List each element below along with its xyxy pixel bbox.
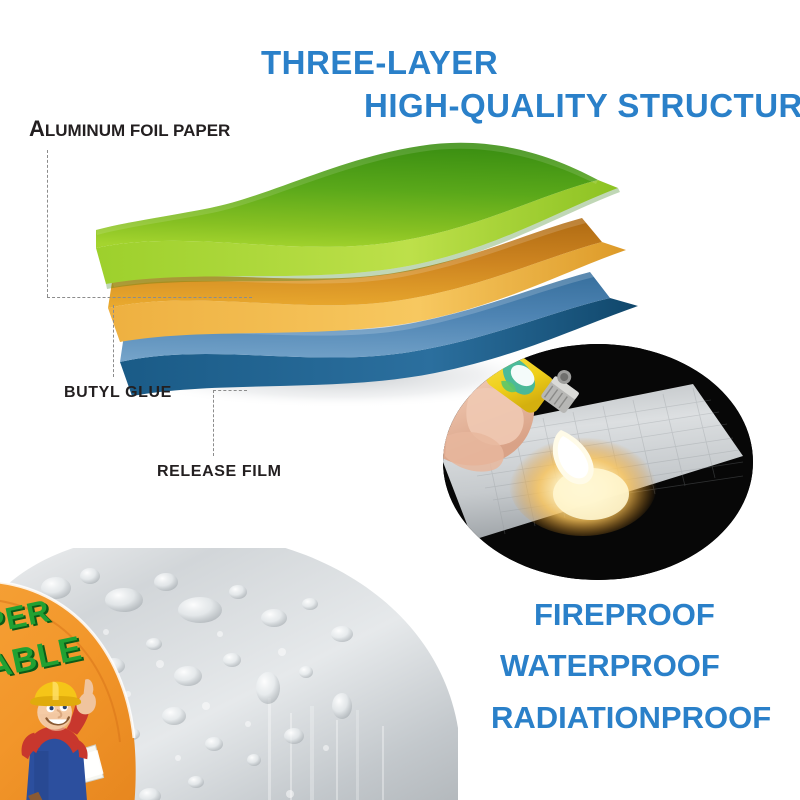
leader-line-butyl-vertical (113, 305, 114, 377)
waterproof-tape-roll-photo: SUPER SUPER DURABLE DURABLE ape provides… (0, 548, 458, 800)
leader-line-foil-vertical (47, 150, 48, 297)
callout-label-butyl-glue: BUTYL GLUE (64, 384, 172, 402)
leader-line-foil-horizontal (47, 297, 252, 298)
fireproof-demonstration-photo (443, 344, 753, 580)
feature-fireproof: FIREPROOF (534, 597, 715, 633)
leader-line-release-horizontal (213, 390, 247, 391)
infographic-canvas: THREE-LAYER HIGH-QUALITY STRUCTURE (0, 0, 800, 800)
callout-label-release-film: RELEASE FILM (157, 463, 282, 481)
callout-foil-rest: LUMINUM FOIL PAPER (45, 121, 230, 140)
leader-line-release-vertical (213, 390, 214, 456)
feature-radiationproof: RADIATIONPROOF (491, 700, 771, 736)
callout-foil-initial: A (29, 116, 45, 141)
feature-waterproof: WATERPROOF (500, 648, 720, 684)
headline-line-2: HIGH-QUALITY STRUCTURE (364, 87, 800, 125)
headline-line-1: THREE-LAYER (261, 44, 498, 82)
callout-label-aluminum-foil-paper: ALUMINUM FOIL PAPER (29, 116, 230, 142)
